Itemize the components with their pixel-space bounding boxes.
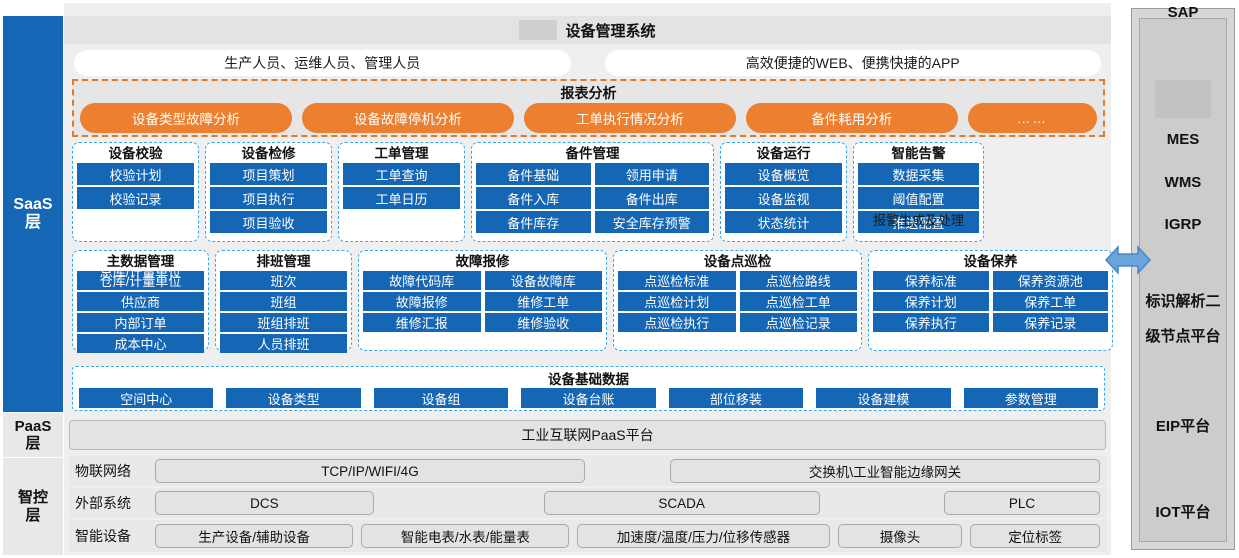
module-card-title: 设备检修 [206, 145, 331, 163]
module-chip[interactable]: 备件入库 [476, 187, 591, 209]
module-chip[interactable]: 班次 [220, 271, 347, 290]
module-chip-row: 项目验收 [210, 211, 327, 233]
module-chip[interactable]: 保养工单 [993, 292, 1109, 311]
layer-paas-line1: PaaS [15, 418, 52, 435]
module-chip-row: 备件入库备件出库 [476, 187, 709, 209]
module-chip[interactable]: 故障代码库 [363, 271, 481, 290]
module-card[interactable]: 设备运行设备概览设备监视状态统计 [720, 142, 847, 242]
base-data-item[interactable]: 设备组 [374, 388, 508, 408]
module-card-title: 工单管理 [339, 145, 464, 163]
control-layer-item[interactable]: 定位标签 [970, 524, 1100, 548]
title-placeholder-box [519, 20, 557, 40]
module-chip-row: 保养计划保养工单 [873, 292, 1108, 311]
base-data-item[interactable]: 参数管理 [964, 388, 1098, 408]
layer-saas-line1: SaaS [13, 196, 52, 213]
control-layer-row-label: 物联网络 [75, 461, 147, 481]
external-system-label: 标识解析二 [1131, 290, 1235, 311]
report-analysis-items: 设备类型故障分析设备故障停机分析工单执行情况分析备件耗用分析…… [80, 103, 1097, 133]
report-item[interactable]: 设备类型故障分析 [80, 103, 292, 133]
module-card-title: 设备保养 [869, 253, 1112, 271]
access-channel-pill: 高效便捷的WEB、便携快捷的APP [605, 50, 1102, 76]
module-card-title: 设备校验 [73, 145, 198, 163]
control-layer-item[interactable]: 加速度/温度/压力/位移传感器 [577, 524, 829, 548]
module-chip[interactable]: 点巡检标准 [618, 271, 736, 290]
external-system-label: 级节点平台 [1131, 325, 1235, 346]
module-chip-list: 故障代码库设备故障库故障报修维修工单维修汇报维修验收 [359, 271, 606, 332]
base-data-item[interactable]: 设备台账 [521, 388, 655, 408]
page-title: 设备管理系统 [565, 20, 655, 41]
module-chip[interactable]: 点巡检路线 [740, 271, 858, 290]
module-chip[interactable]: 工单查询 [343, 163, 460, 185]
control-layer-item[interactable]: 智能电表/水表/能量表 [361, 524, 569, 548]
layer-saas-line2: 层 [25, 214, 41, 231]
module-chip[interactable]: 状态统计 [725, 211, 842, 233]
module-chip[interactable]: 项目验收 [210, 211, 327, 233]
architecture-diagram: SaaS 层 PaaS 层 智控 层 设备管理系统 生产人员、运维人员、管理人员… [0, 0, 1239, 558]
module-chip[interactable]: 备件出库 [595, 187, 710, 209]
module-chip-list: 数据采集阈值配置推送配置 [854, 163, 983, 233]
module-chip[interactable]: 点巡检执行 [618, 313, 736, 332]
external-system-label: IOT平台 [1131, 501, 1235, 522]
base-data-item[interactable]: 空间中心 [79, 388, 213, 408]
module-chip-row: 故障代码库设备故障库 [363, 271, 602, 290]
layer-control-line1: 智控 [18, 489, 48, 506]
module-chip-row: 校验记录 [77, 187, 194, 209]
module-chip-row: 设备概览 [725, 163, 842, 185]
module-chip-row: 项目执行 [210, 187, 327, 209]
module-chip-row: 推送配置 [858, 211, 979, 233]
control-layer-item[interactable]: PLC [944, 491, 1100, 515]
module-chip-row: 工单日历 [343, 187, 460, 209]
module-chip-list: 点巡检标准点巡检路线点巡检计划点巡检工单点巡检执行点巡检记录 [614, 271, 861, 332]
module-chip[interactable]: 设备概览 [725, 163, 842, 185]
module-chip[interactable]: 维修汇报 [363, 313, 481, 332]
module-chip-row: 备件基础领用申请 [476, 163, 709, 185]
report-item[interactable]: 设备故障停机分析 [302, 103, 514, 133]
module-card-title: 设备点巡检 [614, 253, 861, 271]
module-chip-row: 内部订单 [77, 313, 204, 332]
module-chip-list: 仓库/计量单位供应商内部订单成本中心 [73, 271, 208, 353]
module-chip[interactable]: 保养执行 [873, 313, 989, 332]
control-layer-row-label: 外部系统 [75, 493, 147, 513]
external-systems-placeholder-box [1155, 80, 1211, 118]
external-system-label: EIP平台 [1131, 415, 1235, 436]
base-data-items: 空间中心设备类型设备组设备台账部位移装设备建模参数管理 [79, 388, 1098, 408]
layer-rail-paas: PaaS 层 [3, 413, 63, 457]
module-card-title: 智能告警 [854, 145, 983, 163]
module-chip-list: 项目策划项目执行项目验收 [206, 163, 331, 233]
module-chip-row: 工单查询 [343, 163, 460, 185]
module-chip-row: 班组排班 [220, 313, 347, 332]
module-chip[interactable]: 阈值配置 [858, 187, 979, 209]
module-chip[interactable]: 维修验收 [485, 313, 603, 332]
module-card[interactable]: 设备校验校验计划校验记录 [72, 142, 199, 242]
layer-control-line2: 层 [25, 507, 40, 524]
module-chip[interactable]: 项目策划 [210, 163, 327, 185]
module-chip[interactable]: 推送配置 [858, 211, 979, 233]
module-chip-row: 点巡检执行点巡检记录 [618, 313, 857, 332]
module-chip-row: 状态统计 [725, 211, 842, 233]
module-chip-row: 保养执行保养记录 [873, 313, 1108, 332]
module-chip-row: 班次 [220, 271, 347, 290]
user-role-pill-row: 生产人员、运维人员、管理人员 高效便捷的WEB、便携快捷的APP [64, 50, 1111, 76]
module-chip-row: 校验计划 [77, 163, 194, 185]
report-analysis-section: 报表分析 设备类型故障分析设备故障停机分析工单执行情况分析备件耗用分析…… [72, 79, 1105, 137]
module-card[interactable]: 设备检修项目策划项目执行项目验收 [205, 142, 332, 242]
layer-rail-saas: SaaS 层 [3, 16, 63, 412]
module-chip[interactable]: 内部订单 [77, 313, 204, 332]
module-chip[interactable]: 维修工单 [485, 292, 603, 311]
module-chip[interactable]: 故障报修 [363, 292, 481, 311]
module-chip[interactable]: 设备故障库 [485, 271, 603, 290]
module-chip[interactable]: 备件基础 [476, 163, 591, 185]
module-card-title: 备件管理 [472, 145, 713, 163]
base-data-section: 设备基础数据 空间中心设备类型设备组设备台账部位移装设备建模参数管理 [72, 366, 1105, 411]
module-chip-list: 工单查询工单日历 [339, 163, 464, 209]
module-chip-row: 维修汇报维修验收 [363, 313, 602, 332]
module-chip-list: 保养标准保养资源池保养计划保养工单保养执行保养记录 [869, 271, 1112, 332]
module-chip-row: 故障报修维修工单 [363, 292, 602, 311]
control-layer-row: 外部系统DCSSCADAPLC [69, 488, 1106, 518]
module-chip[interactable]: 安全库存预警 [595, 211, 710, 233]
module-card[interactable]: 智能告警数据采集阈值配置推送配置报警生成及处理 [853, 142, 984, 242]
module-card[interactable]: 主数据管理仓库/计量单位供应商内部订单成本中心总库/计量单位 [72, 250, 209, 351]
module-card[interactable]: 备件管理备件基础领用申请备件入库备件出库备件库存安全库存预警 [471, 142, 714, 242]
module-chip-row: 成本中心 [77, 334, 204, 353]
control-layer-row: 智能设备生产设备/辅助设备智能电表/水表/能量表加速度/温度/压力/位移传感器摄… [69, 520, 1106, 552]
module-chip[interactable]: 点巡检工单 [740, 292, 858, 311]
module-chip-row: 供应商 [77, 292, 204, 311]
module-chip-row: 数据采集 [858, 163, 979, 185]
module-chip-list: 班次班组班组排班人员排班 [216, 271, 351, 353]
module-card[interactable]: 排班管理班次班组班组排班人员排班 [215, 250, 352, 351]
module-chip[interactable]: 数据采集 [858, 163, 979, 185]
control-layer-item[interactable]: TCP/IP/WIFI/4G [155, 459, 585, 483]
module-chip-row: 阈值配置 [858, 187, 979, 209]
module-chip-row: 人员排班 [220, 334, 347, 353]
system-title-strip: 设备管理系统 [64, 16, 1111, 44]
control-layer-row-label: 智能设备 [75, 526, 147, 546]
module-chip[interactable]: 保养标准 [873, 271, 989, 290]
module-chip[interactable]: 点巡检计划 [618, 292, 736, 311]
layer-paas-line2: 层 [25, 435, 40, 452]
base-data-item[interactable]: 部位移装 [669, 388, 803, 408]
module-chip[interactable]: 保养记录 [993, 313, 1109, 332]
external-system-label: WMS [1131, 174, 1235, 191]
module-chip[interactable]: 领用申请 [595, 163, 710, 185]
module-chip-row: 点巡检计划点巡检工单 [618, 292, 857, 311]
base-data-item[interactable]: 设备建模 [816, 388, 950, 408]
module-chip-row: 项目策划 [210, 163, 327, 185]
module-chip[interactable]: 保养计划 [873, 292, 989, 311]
module-card-title: 主数据管理 [73, 253, 208, 271]
layer-rail-control: 智控 层 [3, 458, 63, 555]
module-chip[interactable]: 工单日历 [343, 187, 460, 209]
module-card-title: 故障报修 [359, 253, 606, 271]
module-chip-row: 班组 [220, 292, 347, 311]
module-chip[interactable]: 项目执行 [210, 187, 327, 209]
module-chip-row: 设备监视 [725, 187, 842, 209]
report-item[interactable]: 工单执行情况分析 [524, 103, 736, 133]
module-chip[interactable]: 成本中心 [77, 334, 204, 353]
module-chip-row: 仓库/计量单位 [77, 271, 204, 290]
main-panel: 设备管理系统 生产人员、运维人员、管理人员 高效便捷的WEB、便携快捷的APP … [64, 3, 1111, 555]
report-analysis-title: 报表分析 [74, 83, 1103, 103]
module-chip[interactable]: 人员排班 [220, 334, 347, 353]
module-card[interactable]: 设备保养保养标准保养资源池保养计划保养工单保养执行保养记录 [868, 250, 1113, 351]
module-card[interactable]: 设备点巡检点巡检标准点巡检路线点巡检计划点巡检工单点巡检执行点巡检记录 [613, 250, 862, 351]
module-chip-list: 备件基础领用申请备件入库备件出库备件库存安全库存预警 [472, 163, 713, 233]
module-chip[interactable]: 校验计划 [77, 163, 194, 185]
module-card-title: 排班管理 [216, 253, 351, 271]
module-card-title: 设备运行 [721, 145, 846, 163]
module-chip[interactable]: 班组 [220, 292, 347, 311]
control-layer-item[interactable]: 生产设备/辅助设备 [155, 524, 353, 548]
control-layer-item[interactable]: 摄像头 [838, 524, 963, 548]
module-chip[interactable]: 设备监视 [725, 187, 842, 209]
module-chip[interactable]: 保养资源池 [993, 271, 1109, 290]
control-layer-item[interactable]: DCS [155, 491, 374, 515]
user-role-pill: 生产人员、运维人员、管理人员 [74, 50, 571, 76]
module-card[interactable]: 工单管理工单查询工单日历 [338, 142, 465, 242]
module-chip[interactable]: 点巡检记录 [740, 313, 858, 332]
external-system-label: SAP [1131, 4, 1235, 21]
base-data-item[interactable]: 设备类型 [226, 388, 360, 408]
module-chip-list: 设备概览设备监视状态统计 [721, 163, 846, 233]
module-chip-row: 点巡检标准点巡检路线 [618, 271, 857, 290]
module-chip[interactable]: 供应商 [77, 292, 204, 311]
control-layer-item[interactable]: 交换机\工业智能边缘网关 [670, 459, 1100, 483]
control-layer-row: 物联网络TCP/IP/WIFI/4G交换机\工业智能边缘网关 [69, 456, 1106, 486]
report-item[interactable]: …… [968, 103, 1097, 133]
report-item[interactable]: 备件耗用分析 [746, 103, 958, 133]
module-chip[interactable]: 班组排班 [220, 313, 347, 332]
module-chip[interactable]: 校验记录 [77, 187, 194, 209]
external-system-label: IGRP [1131, 216, 1235, 233]
module-chip[interactable]: 仓库/计量单位 [77, 271, 204, 290]
control-layer-item[interactable]: SCADA [544, 491, 820, 515]
paas-platform-band: 工业互联网PaaS平台 [69, 420, 1106, 450]
module-chip[interactable]: 备件库存 [476, 211, 591, 233]
external-system-label: MES [1131, 131, 1235, 148]
base-data-title: 设备基础数据 [73, 368, 1104, 388]
module-card[interactable]: 故障报修故障代码库设备故障库故障报修维修工单维修汇报维修验收 [358, 250, 607, 351]
module-chip-row: 备件库存安全库存预警 [476, 211, 709, 233]
module-chip-list: 校验计划校验记录 [73, 163, 198, 209]
module-chip-row: 保养标准保养资源池 [873, 271, 1108, 290]
